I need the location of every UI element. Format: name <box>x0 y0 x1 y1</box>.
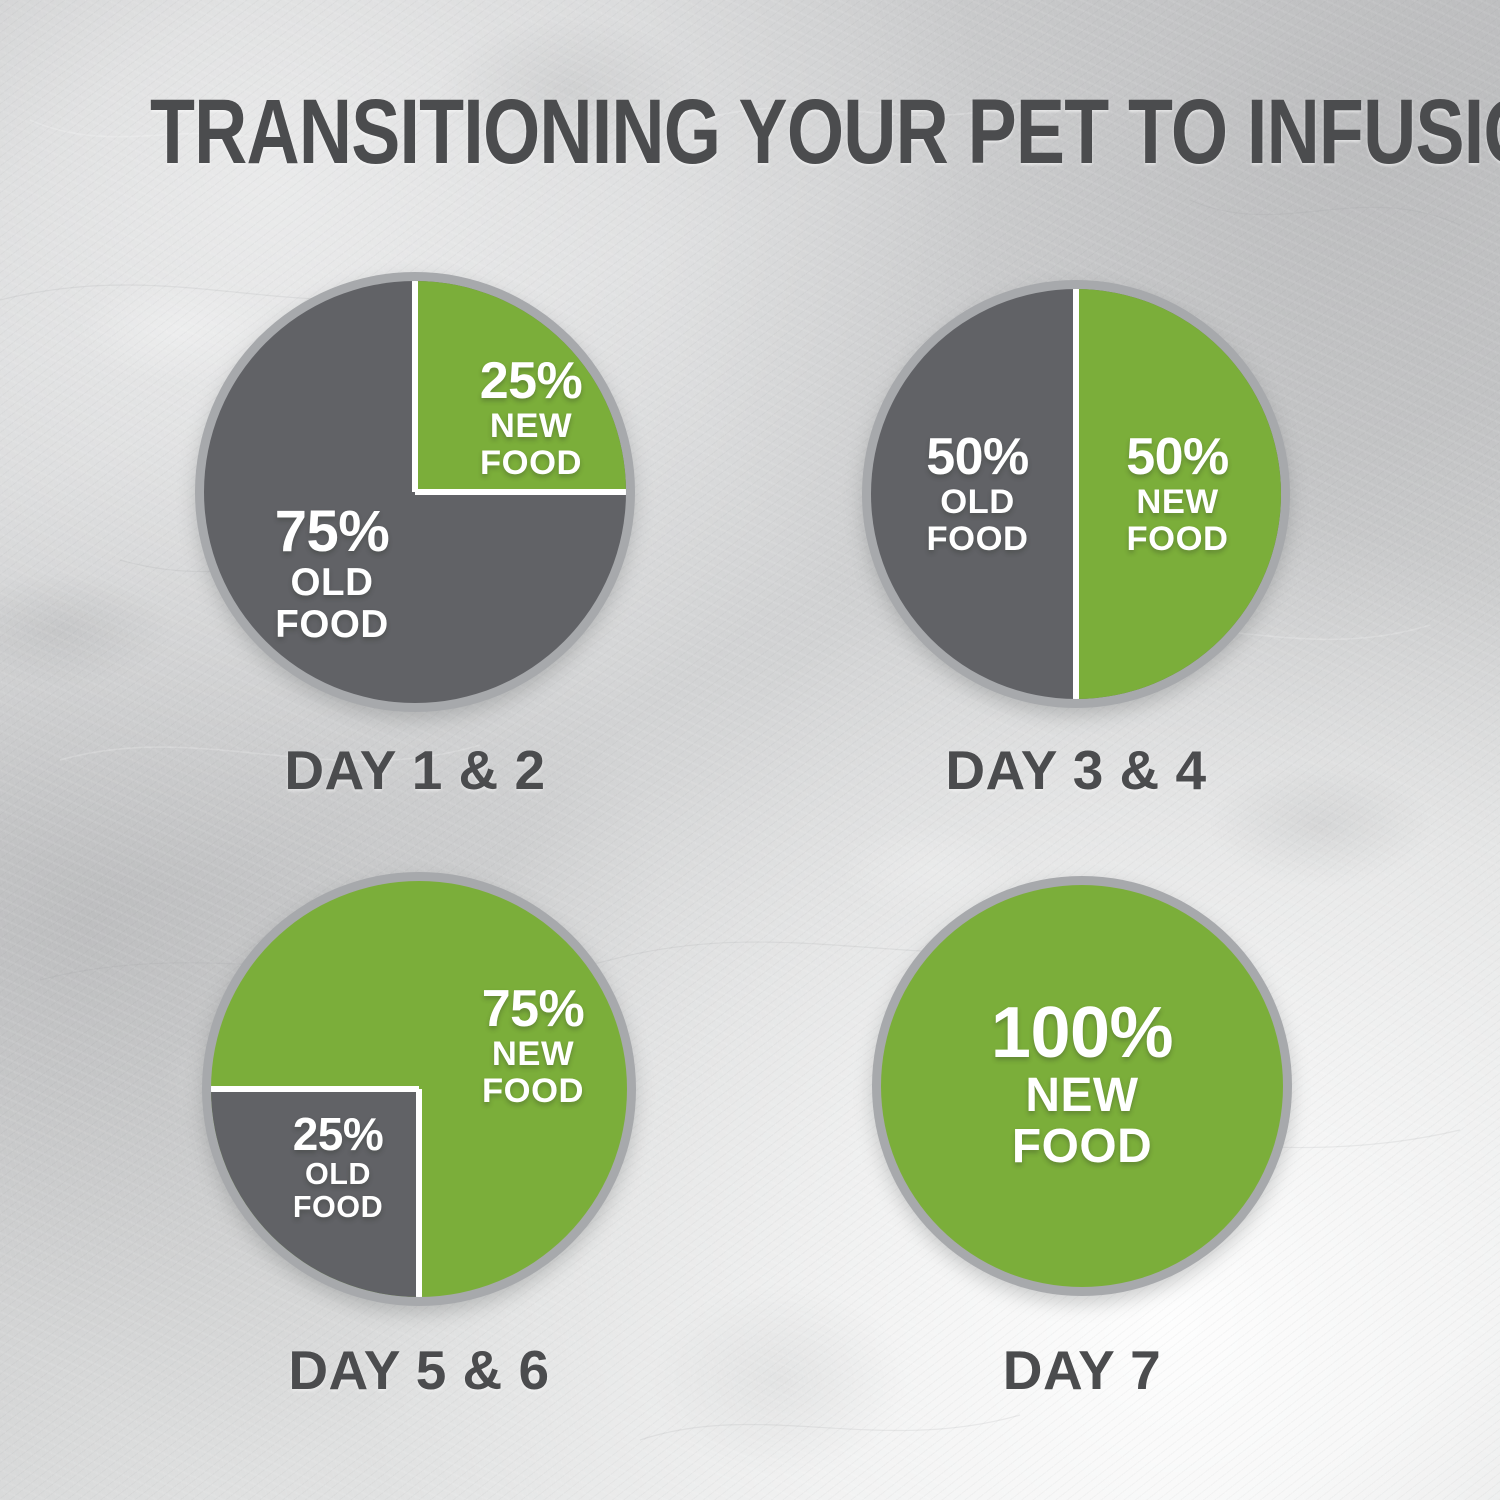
pct-line2: FOOD <box>1090 523 1265 557</box>
pct-line1: NEW <box>451 410 611 444</box>
chart-card-day-1-2: 25% NEW FOOD 75% OLD FOOD <box>195 272 635 712</box>
pct-line2: FOOD <box>262 1193 414 1223</box>
pct-line2: FOOD <box>890 523 1065 557</box>
pct-value: 50% <box>1090 432 1265 483</box>
caption-day-5-6: DAY 5 & 6 <box>202 1338 636 1402</box>
pct-line2: FOOD <box>448 1075 618 1109</box>
pie-chart-day-3-4: 50% OLD FOOD 50% NEW FOOD <box>862 280 1290 708</box>
label-new-food-day-1-2: 25% NEW FOOD <box>451 356 611 481</box>
pct-line2: FOOD <box>451 447 611 481</box>
label-new-food-day-3-4: 50% NEW FOOD <box>1090 432 1265 557</box>
infographic-poster: TRANSITIONING YOUR PET TO INFUSION 25% N… <box>0 0 1500 1500</box>
label-old-food-day-3-4: 50% OLD FOOD <box>890 432 1065 557</box>
label-old-food-day-1-2: 75% OLD FOOD <box>237 504 427 643</box>
pct-line1: NEW <box>1090 486 1265 520</box>
pct-line1: OLD <box>237 564 427 602</box>
pct-value: 100% <box>932 998 1232 1069</box>
pie-chart-day-7: 100% NEW FOOD <box>872 876 1292 1296</box>
pct-line1: NEW <box>932 1073 1232 1120</box>
pct-value: 25% <box>262 1112 414 1157</box>
pct-value: 25% <box>451 356 611 407</box>
pct-value: 75% <box>237 504 427 561</box>
label-old-food-day-5-6: 25% OLD FOOD <box>262 1112 414 1223</box>
label-new-food-day-7: 100% NEW FOOD <box>932 998 1232 1171</box>
page-title: TRANSITIONING YOUR PET TO INFUSION <box>150 86 1350 178</box>
caption-day-1-2: DAY 1 & 2 <box>195 738 635 802</box>
pct-line1: OLD <box>890 486 1065 520</box>
chart-card-day-5-6: 75% NEW FOOD 25% OLD FOOD <box>202 872 636 1306</box>
pct-line2: FOOD <box>237 606 427 644</box>
label-new-food-day-5-6: 75% NEW FOOD <box>448 984 618 1109</box>
pct-value: 50% <box>890 432 1065 483</box>
caption-day-7: DAY 7 <box>872 1338 1292 1402</box>
caption-day-3-4: DAY 3 & 4 <box>862 738 1290 802</box>
pie-chart-day-5-6: 75% NEW FOOD 25% OLD FOOD <box>202 872 636 1306</box>
pct-line1: NEW <box>448 1038 618 1072</box>
pct-line2: FOOD <box>932 1124 1232 1171</box>
pie-chart-day-1-2: 25% NEW FOOD 75% OLD FOOD <box>195 272 635 712</box>
chart-card-day-7: 100% NEW FOOD <box>872 876 1292 1296</box>
chart-card-day-3-4: 50% OLD FOOD 50% NEW FOOD <box>862 280 1290 708</box>
pct-line1: OLD <box>262 1160 414 1190</box>
pct-value: 75% <box>448 984 618 1035</box>
